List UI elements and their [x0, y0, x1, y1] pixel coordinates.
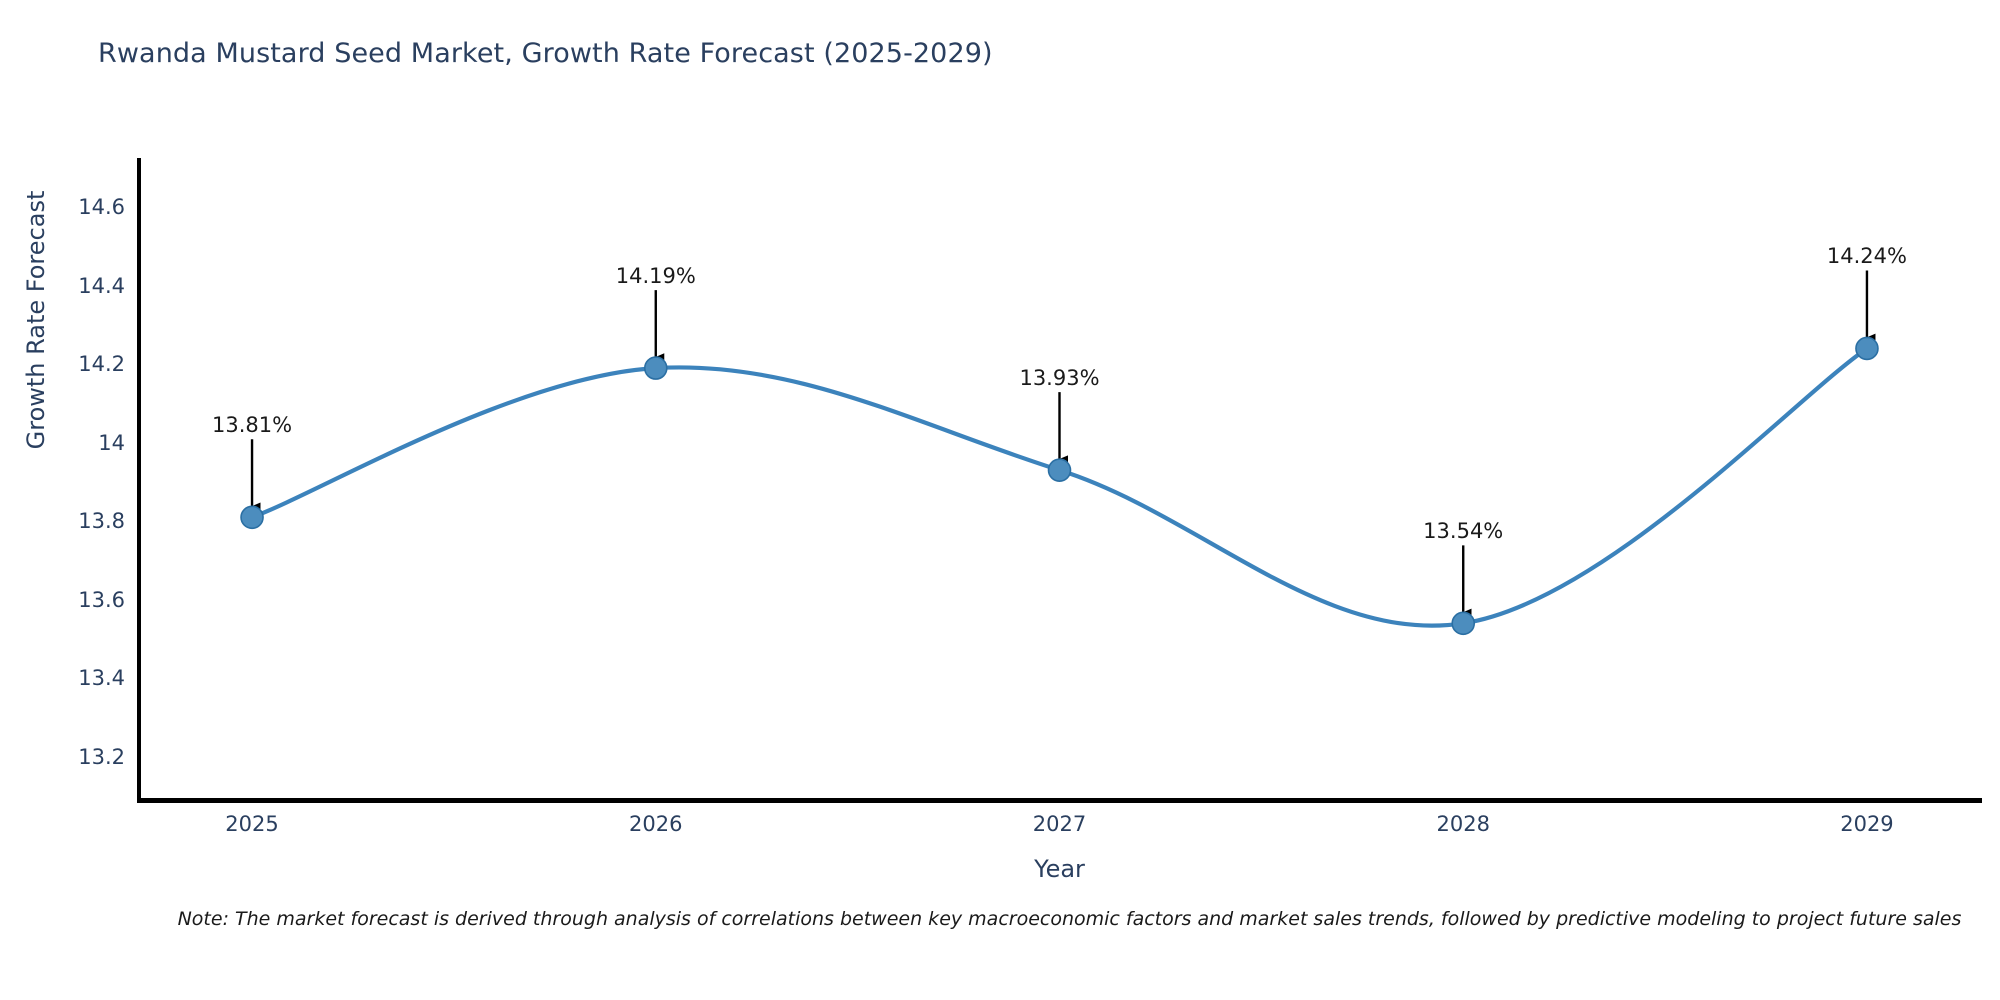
data-point-label: 13.93% [1019, 366, 1099, 390]
x-axis-title: Year [139, 855, 1980, 883]
data-point-label: 13.81% [212, 413, 292, 437]
line-series-plot [0, 0, 2000, 1000]
chart-footnote: Note: The market forecast is derived thr… [139, 908, 2000, 930]
data-point-marker[interactable] [1049, 459, 1071, 481]
data-point-label: 14.19% [616, 264, 696, 288]
data-point-marker[interactable] [1856, 337, 1878, 359]
chart-figure: Rwanda Mustard Seed Market, Growth Rate … [0, 0, 2000, 1000]
data-point-label: 13.54% [1423, 519, 1503, 543]
data-point-marker[interactable] [1452, 612, 1474, 634]
data-point-label: 14.24% [1827, 244, 1907, 268]
data-point-marker[interactable] [241, 506, 263, 528]
data-point-marker[interactable] [645, 357, 667, 379]
